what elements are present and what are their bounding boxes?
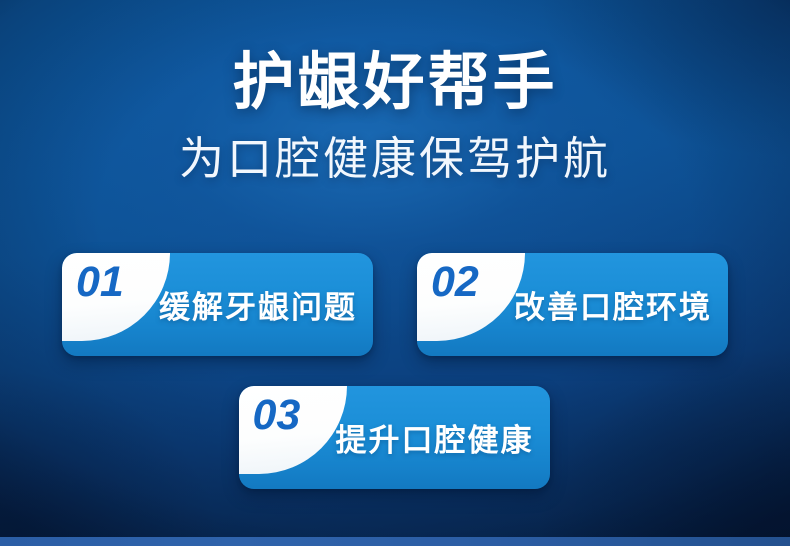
promo-banner: 护龈好帮手 为口腔健康保驾护航 01 缓解牙龈问题 02 改善口腔环境 03 提… xyxy=(0,0,790,546)
feature-card-03[interactable]: 03 提升口腔健康 xyxy=(239,386,550,489)
page-title: 护龈好帮手 xyxy=(0,52,790,114)
number-badge-03: 03 xyxy=(239,386,347,474)
badge-number-label: 02 xyxy=(431,261,479,304)
feature-label-03: 提升口腔健康 xyxy=(336,415,534,460)
feature-card-01[interactable]: 01 缓解牙龈问题 xyxy=(62,253,373,356)
feature-cards-row-top: 01 缓解牙龈问题 02 改善口腔环境 xyxy=(62,253,728,356)
number-badge-02: 02 xyxy=(417,253,525,341)
badge-number-label: 01 xyxy=(76,261,124,304)
headline-block: 护龈好帮手 为口腔健康保驾护航 xyxy=(0,52,790,181)
feature-cards-row-bottom: 03 提升口腔健康 xyxy=(238,386,550,489)
feature-label-01: 缓解牙龈问题 xyxy=(159,282,357,327)
bottom-accent-strip xyxy=(0,537,790,546)
feature-label-02: 改善口腔环境 xyxy=(514,282,712,327)
number-badge-01: 01 xyxy=(62,253,170,341)
feature-card-02[interactable]: 02 改善口腔环境 xyxy=(417,253,728,356)
page-subtitle: 为口腔健康保驾护航 xyxy=(0,136,790,181)
badge-number-label: 03 xyxy=(253,394,301,437)
